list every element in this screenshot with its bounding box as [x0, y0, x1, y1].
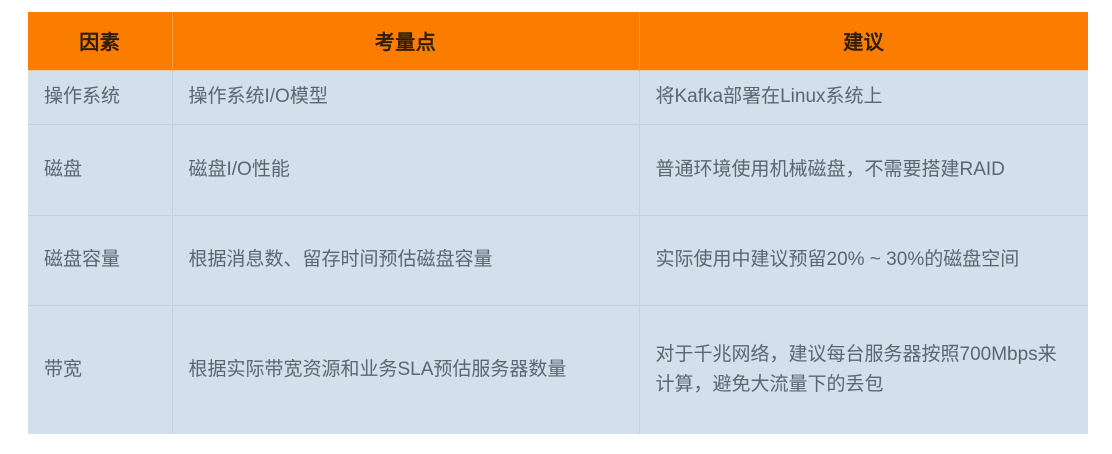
table-row: 磁盘 磁盘I/O性能 普通环境使用机械磁盘，不需要搭建RAID: [28, 124, 1088, 215]
cell-advice: 将Kafka部署在Linux系统上: [639, 70, 1088, 124]
column-header-factor: 因素: [28, 12, 172, 70]
page-root: 因素 考量点 建议 操作系统 操作系统I/O模型 将Kafka部署在Linux系…: [0, 0, 1112, 454]
column-header-advice: 建议: [639, 12, 1088, 70]
cell-consideration: 根据实际带宽资源和业务SLA预估服务器数量: [172, 305, 639, 434]
table-body: 操作系统 操作系统I/O模型 将Kafka部署在Linux系统上 磁盘 磁盘I/…: [28, 70, 1088, 434]
table-header-row: 因素 考量点 建议: [28, 12, 1088, 70]
factor-table: 因素 考量点 建议 操作系统 操作系统I/O模型 将Kafka部署在Linux系…: [28, 12, 1088, 434]
table-row: 带宽 根据实际带宽资源和业务SLA预估服务器数量 对于千兆网络，建议每台服务器按…: [28, 305, 1088, 434]
cell-consideration: 根据消息数、留存时间预估磁盘容量: [172, 215, 639, 305]
cell-advice: 对于千兆网络，建议每台服务器按照700Mbps来计算，避免大流量下的丢包: [639, 305, 1088, 434]
cell-consideration: 操作系统I/O模型: [172, 70, 639, 124]
cell-consideration: 磁盘I/O性能: [172, 124, 639, 215]
table-row: 磁盘容量 根据消息数、留存时间预估磁盘容量 实际使用中建议预留20% ~ 30%…: [28, 215, 1088, 305]
cell-factor: 磁盘: [28, 124, 172, 215]
table-row: 操作系统 操作系统I/O模型 将Kafka部署在Linux系统上: [28, 70, 1088, 124]
table-header: 因素 考量点 建议: [28, 12, 1088, 70]
column-header-consideration: 考量点: [172, 12, 639, 70]
cell-factor: 带宽: [28, 305, 172, 434]
cell-advice: 普通环境使用机械磁盘，不需要搭建RAID: [639, 124, 1088, 215]
cell-factor: 磁盘容量: [28, 215, 172, 305]
cell-advice: 实际使用中建议预留20% ~ 30%的磁盘空间: [639, 215, 1088, 305]
cell-factor: 操作系统: [28, 70, 172, 124]
factor-table-container: 因素 考量点 建议 操作系统 操作系统I/O模型 将Kafka部署在Linux系…: [28, 12, 1088, 434]
